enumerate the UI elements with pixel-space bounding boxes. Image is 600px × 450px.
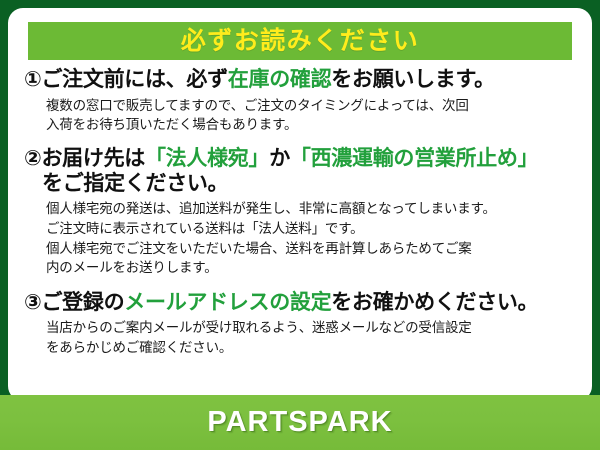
- item-2-head-mid: か: [269, 147, 290, 170]
- item-2-heading-line-2: をご指定ください。: [24, 172, 578, 197]
- list-item: ③ご登録のメールアドレスの設定をお確かめください。 当店からのご案内メールが受け…: [8, 291, 592, 358]
- item-1-head-pre: ご注文前には、必ず: [41, 68, 227, 91]
- item-2-body-line-2: ご注文時に表示されている送料は「法人送料」です。: [46, 219, 578, 239]
- item-3-body: 当店からのご案内メールが受け取れるよう、迷惑メールなどの受信設定 をあらかじめご…: [24, 318, 578, 357]
- item-3-head-pre: ご登録の: [41, 291, 124, 314]
- item-2-heading: ②お届け先は「法人様宛」か「西濃運輸の営業所止め」 をご指定ください。: [24, 147, 578, 197]
- item-1-highlight: 在庫の確認: [228, 68, 332, 91]
- item-2-body-line-1: 個人様宅宛の発送は、追加送料が発生し、非常に高額となってしまいます。: [46, 199, 578, 219]
- item-1-heading: ①ご注文前には、必ず在庫の確認をお願いします。: [24, 68, 578, 93]
- item-2-highlight: 「法人様宛」: [145, 147, 269, 170]
- page-title: 必ずお読みください: [181, 29, 420, 54]
- item-2-marker: ②: [24, 147, 41, 170]
- brand-logo-text: PARTSPARK: [207, 406, 392, 439]
- item-3-highlight: メールアドレスの設定: [124, 291, 331, 314]
- item-2-head-pre: お届け先は: [41, 147, 145, 170]
- item-3-heading: ③ご登録のメールアドレスの設定をお確かめください。: [24, 291, 578, 316]
- item-2-body-line-3: 個人様宅宛でご注文をいただいた場合、送料を再計算しあらためてご案: [46, 239, 578, 259]
- footer-band: PARTSPARK: [0, 395, 600, 450]
- item-2-body: 個人様宅宛の発送は、追加送料が発生し、非常に高額となってしまいます。 ご注文時に…: [24, 199, 578, 277]
- item-1-head-post: をお願いします。: [331, 68, 495, 91]
- title-banner: 必ずお読みください: [28, 22, 572, 60]
- item-1-marker: ①: [24, 68, 41, 91]
- white-panel: 必ずお読みください ①ご注文前には、必ず在庫の確認をお願いします。 複数の窓口で…: [8, 8, 592, 401]
- item-1-body: 複数の窓口で販売してますので、ご注文のタイミングによっては、次回 入荷をお待ち頂…: [24, 96, 578, 135]
- notice-list: ①ご注文前には、必ず在庫の確認をお願いします。 複数の窓口で販売してますので、ご…: [8, 66, 592, 358]
- item-2-body-line-4: 内のメールをお送りします。: [46, 258, 578, 278]
- list-item: ①ご注文前には、必ず在庫の確認をお願いします。 複数の窓口で販売してますので、ご…: [8, 68, 592, 135]
- item-1-body-line-1: 複数の窓口で販売してますので、ご注文のタイミングによっては、次回: [46, 96, 578, 116]
- item-3-head-post: をお確かめください。: [331, 291, 538, 314]
- item-3-body-line-1: 当店からのご案内メールが受け取れるよう、迷惑メールなどの受信設定: [46, 318, 578, 338]
- item-1-body-line-2: 入荷をお待ち頂いただく場合もあります。: [46, 115, 578, 135]
- notice-card: 必ずお読みください ①ご注文前には、必ず在庫の確認をお願いします。 複数の窓口で…: [0, 0, 600, 450]
- item-3-body-line-2: をあらかじめご確認ください。: [46, 338, 578, 358]
- item-2-highlight-2: 「西濃運輸の営業所止め」: [290, 147, 538, 170]
- list-item: ②お届け先は「法人様宛」か「西濃運輸の営業所止め」 をご指定ください。 個人様宅…: [8, 147, 592, 278]
- item-3-marker: ③: [24, 291, 41, 314]
